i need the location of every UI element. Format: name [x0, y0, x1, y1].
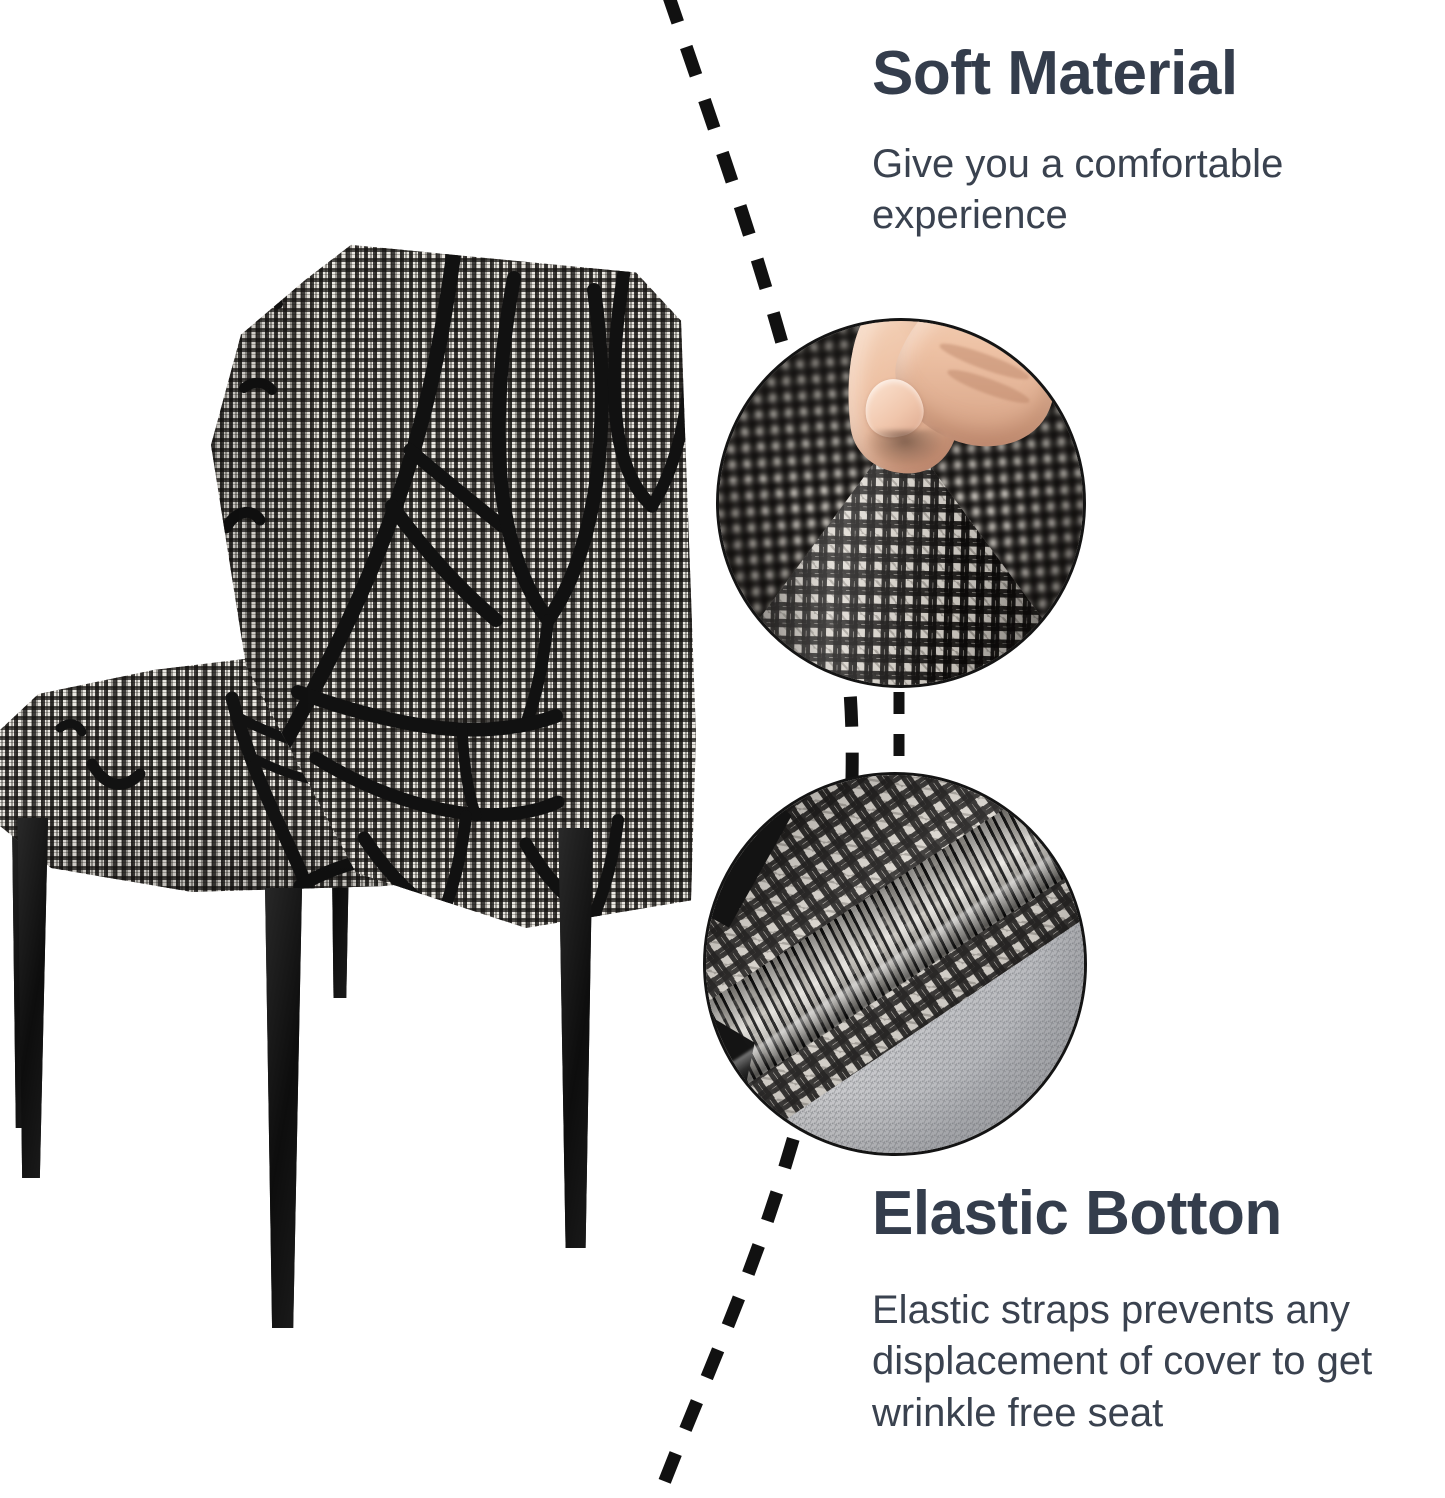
- soft-material-description: Give you a comfortable experience: [872, 139, 1392, 241]
- fabric-fold-right: [945, 481, 1086, 685]
- chair-leg-front-center: [258, 888, 302, 1328]
- leg-shading: [556, 828, 596, 1248]
- pinch-contact-shadow: [865, 430, 945, 466]
- elastic-hem-photo: [706, 775, 1084, 1153]
- chair-leg-front-right: [556, 828, 596, 1248]
- infographic-canvas: Soft Material Give you a comfortable exp…: [0, 0, 1445, 1498]
- feature-block-elastic-botton: Elastic Botton Elastic straps prevents a…: [872, 1182, 1432, 1439]
- elastic-botton-headline: Elastic Botton: [872, 1182, 1432, 1245]
- feature-block-soft-material: Soft Material Give you a comfortable exp…: [872, 42, 1432, 242]
- elastic-botton-description: Elastic straps prevents any displacement…: [872, 1285, 1392, 1439]
- fabric-pinch-circle-icon: [716, 318, 1086, 688]
- leg-shading: [258, 888, 302, 1328]
- fabric-fold-left: [716, 481, 857, 685]
- elastic-photo-vignette: [706, 775, 1084, 1153]
- soft-material-headline: Soft Material: [872, 42, 1432, 105]
- elastic-hem-circle-icon: [703, 772, 1087, 1156]
- pinch-photo: [719, 321, 1083, 685]
- product-chair-image: [0, 228, 730, 1338]
